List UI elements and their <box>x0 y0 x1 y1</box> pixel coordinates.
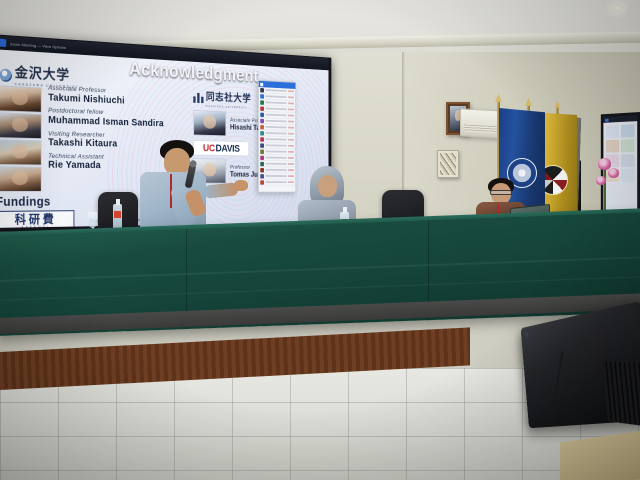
participant-avatar <box>260 131 264 135</box>
team-photo-column <box>0 85 42 192</box>
participant-avatar <box>260 168 264 172</box>
drinking-glass[interactable] <box>88 212 97 228</box>
participant-mute-icon <box>288 151 294 153</box>
tablecloth-fold <box>0 256 640 282</box>
zoom-gallery-tile <box>621 154 635 167</box>
zoom-participant-row[interactable] <box>259 179 296 185</box>
participant-name-bar <box>265 144 286 146</box>
zoom-logo-icon <box>0 39 6 48</box>
university-seal-icon <box>0 68 12 82</box>
participant-mute-icon <box>288 90 294 92</box>
participant-name-bar <box>265 114 286 117</box>
participant-name-bar <box>265 138 286 140</box>
participant-mute-icon <box>288 175 294 177</box>
participant-name-bar <box>265 89 286 92</box>
participant-avatar <box>260 137 264 141</box>
participant-name-bar <box>265 95 286 98</box>
participant-name-bar <box>265 126 286 128</box>
participant-name-bar <box>265 157 286 159</box>
zoom-gallery-tile <box>621 169 635 182</box>
kakenhi-kanji: 科研費 <box>15 213 57 225</box>
participant-name-bar <box>265 181 286 183</box>
participant-name-bar <box>265 151 286 153</box>
monitor-vesa-mount <box>602 361 640 426</box>
participant-name-bar <box>265 175 286 177</box>
participant-avatar <box>260 174 264 178</box>
university-kanji: 金沢大学 <box>15 65 70 84</box>
speaker-hand-right <box>234 180 248 191</box>
participant-mute-icon <box>288 133 294 135</box>
participant-name-bar <box>265 163 286 165</box>
participant-mute-icon <box>288 139 294 141</box>
team-photo <box>0 139 42 165</box>
doshisha-kanji: 同志社大学 <box>206 91 251 105</box>
participant-avatar <box>260 155 264 159</box>
participant-avatar <box>260 118 264 123</box>
team-photo <box>0 166 42 192</box>
participant-mute-icon <box>288 163 294 165</box>
team-photo <box>0 112 42 139</box>
participant-avatar <box>260 149 264 153</box>
participant-mute-icon <box>288 181 294 183</box>
zoom-gallery-tile <box>621 139 635 152</box>
ceiling-downlight <box>612 4 623 12</box>
participant-mute-icon <box>288 145 294 147</box>
participant-name-bar <box>265 120 286 122</box>
zoom-gallery-tile <box>606 125 619 138</box>
participant-name-bar <box>265 108 286 111</box>
zoom-toolbar-label: Zoom Meeting — View Options <box>10 41 66 50</box>
moderator-head <box>318 175 337 197</box>
participant-avatar <box>260 100 264 105</box>
participant-avatar <box>260 161 264 165</box>
zoom-participant-list[interactable] <box>259 87 296 186</box>
team-photo <box>0 85 42 112</box>
kakenhi-logo: 科研費 KAKENHI <box>0 210 74 228</box>
participant-name-bar <box>265 101 286 104</box>
zoom-gallery-tile <box>621 124 635 137</box>
fundings-heading: Fundings <box>0 195 74 209</box>
participant-avatar <box>260 180 264 184</box>
collaborator-photo <box>193 110 226 136</box>
participant-name-bar <box>265 132 286 134</box>
small-framed-art <box>437 150 459 178</box>
zoom-participants-panel[interactable] <box>258 80 296 193</box>
participant-mute-icon <box>288 157 294 159</box>
participant-mute-icon <box>288 121 294 123</box>
participant-mute-icon <box>288 115 294 117</box>
participant-avatar <box>260 106 264 111</box>
participant-avatar <box>260 112 264 117</box>
participant-mute-icon <box>288 169 294 171</box>
doshisha-romanized: DOSHISHA UNIVERSITY <box>206 104 251 109</box>
participant-mute-icon <box>288 96 294 98</box>
orchid-bloom <box>608 168 619 178</box>
participant-avatar <box>260 88 264 93</box>
zoom-gallery-tile <box>606 140 619 153</box>
orchid-bloom <box>596 176 606 185</box>
participant-mute-icon <box>288 108 294 110</box>
fundings-block: Fundings 科研費 KAKENHI <box>0 195 74 228</box>
participant-avatar <box>260 94 264 99</box>
participant-mute-icon <box>288 127 294 129</box>
seminar-room-photo: Zoom Meeting — View Options Acknowledgme… <box>0 0 640 480</box>
glasses-icon <box>490 190 512 195</box>
participant-mute-icon <box>288 102 294 104</box>
participant-avatar <box>260 143 264 147</box>
participant-avatar <box>260 124 264 129</box>
participant-name-bar <box>265 169 286 171</box>
doshisha-mark-icon <box>193 92 203 102</box>
